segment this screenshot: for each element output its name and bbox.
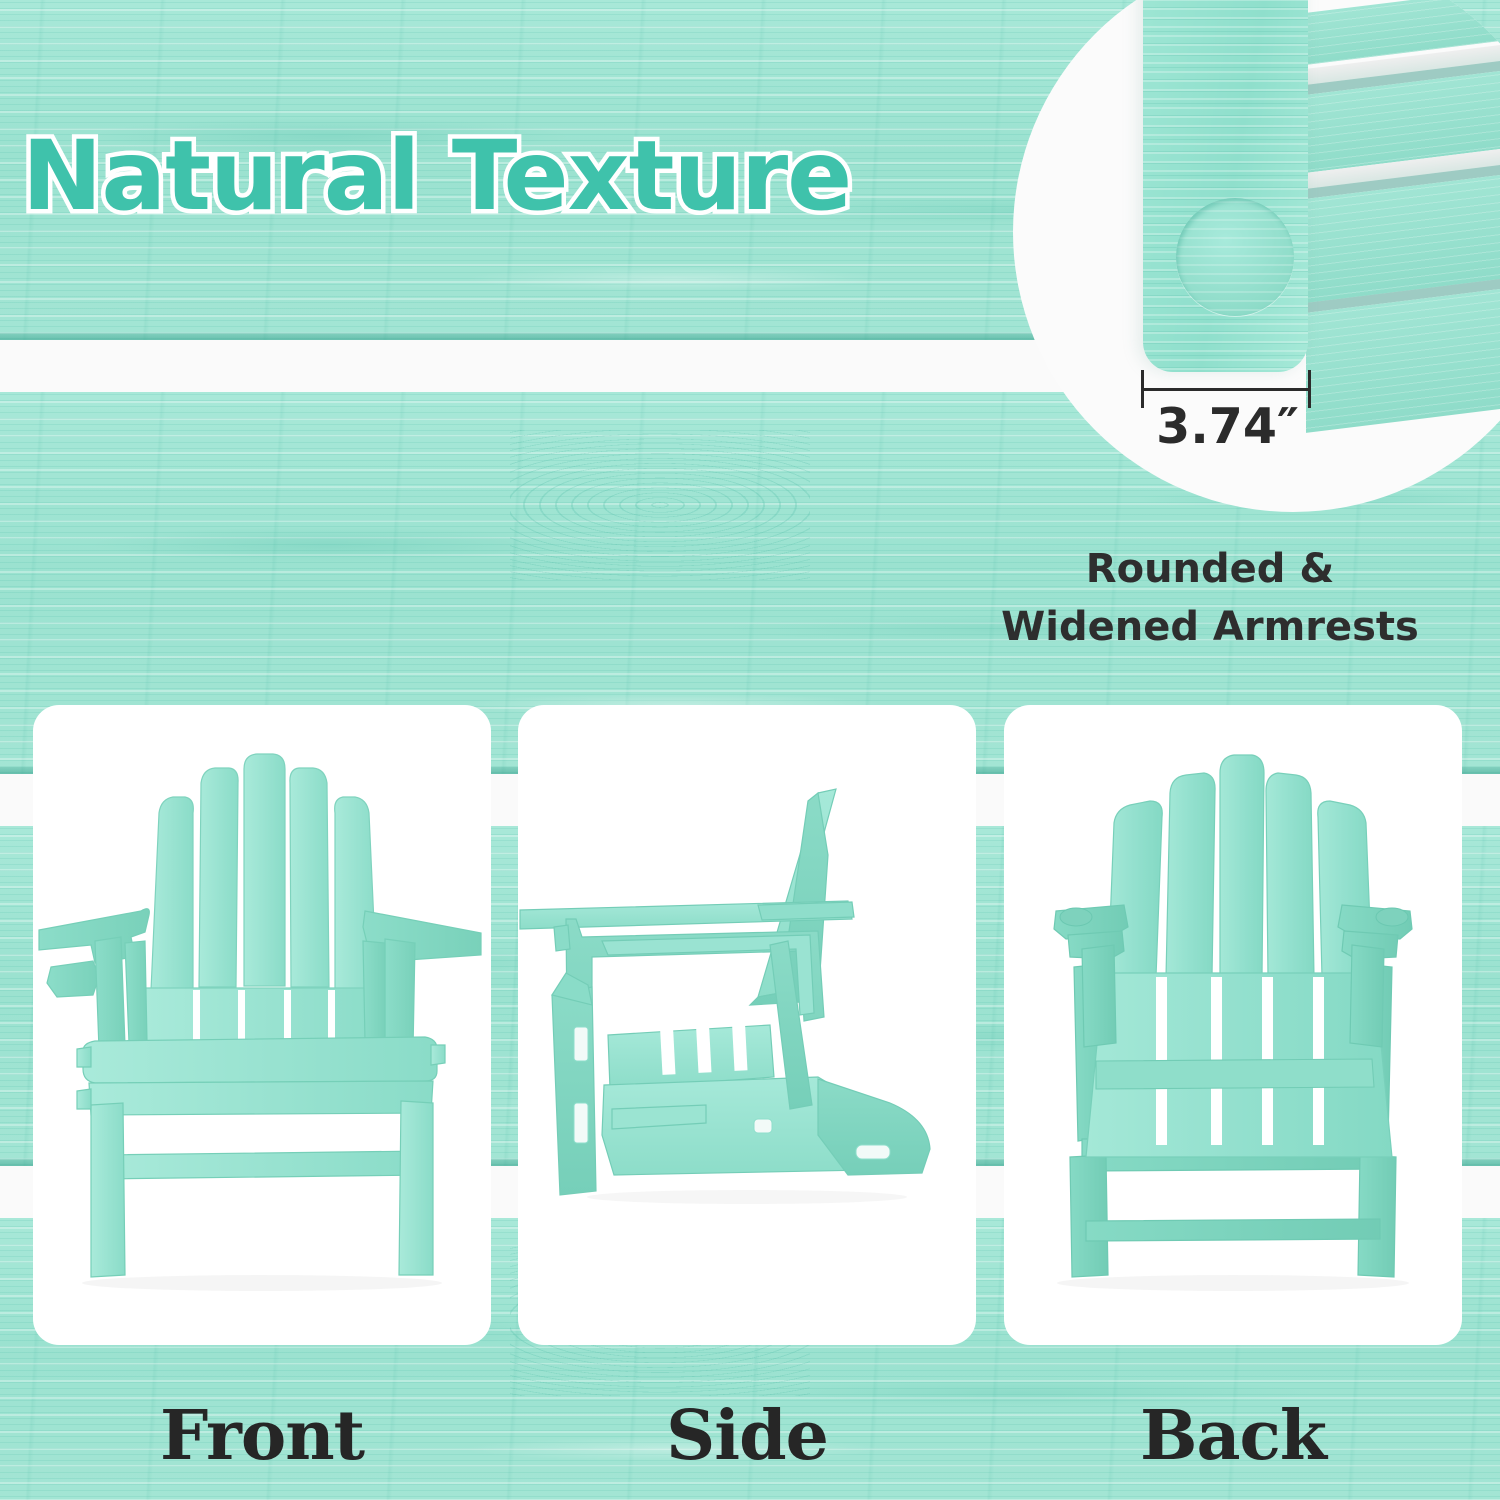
page-title: Natural Texture	[22, 128, 851, 224]
cup-holder-recess	[1176, 198, 1294, 316]
view-label-front: Front	[33, 1396, 491, 1476]
product-view-card-back[interactable]	[1004, 705, 1462, 1345]
dimension-value: 3.74″	[1140, 398, 1315, 455]
chair-front-illustration	[33, 705, 491, 1345]
armrest-slab	[1143, 0, 1308, 372]
poster-background: Natural Texture 3.74″ Rounded & Widened …	[0, 0, 1500, 1500]
chair-side-illustration	[518, 705, 976, 1345]
product-view-card-side[interactable]	[518, 705, 976, 1345]
feature-caption-line-1: Rounded &	[950, 540, 1470, 598]
product-view-card-front[interactable]	[33, 705, 491, 1345]
view-label-side: Side	[518, 1396, 976, 1476]
dimension-bar	[1141, 388, 1311, 391]
chair-back-illustration	[1004, 705, 1462, 1345]
feature-caption: Rounded & Widened Armrests	[950, 540, 1470, 656]
view-label-back: Back	[1004, 1396, 1462, 1476]
feature-caption-line-2: Widened Armrests	[950, 598, 1470, 656]
